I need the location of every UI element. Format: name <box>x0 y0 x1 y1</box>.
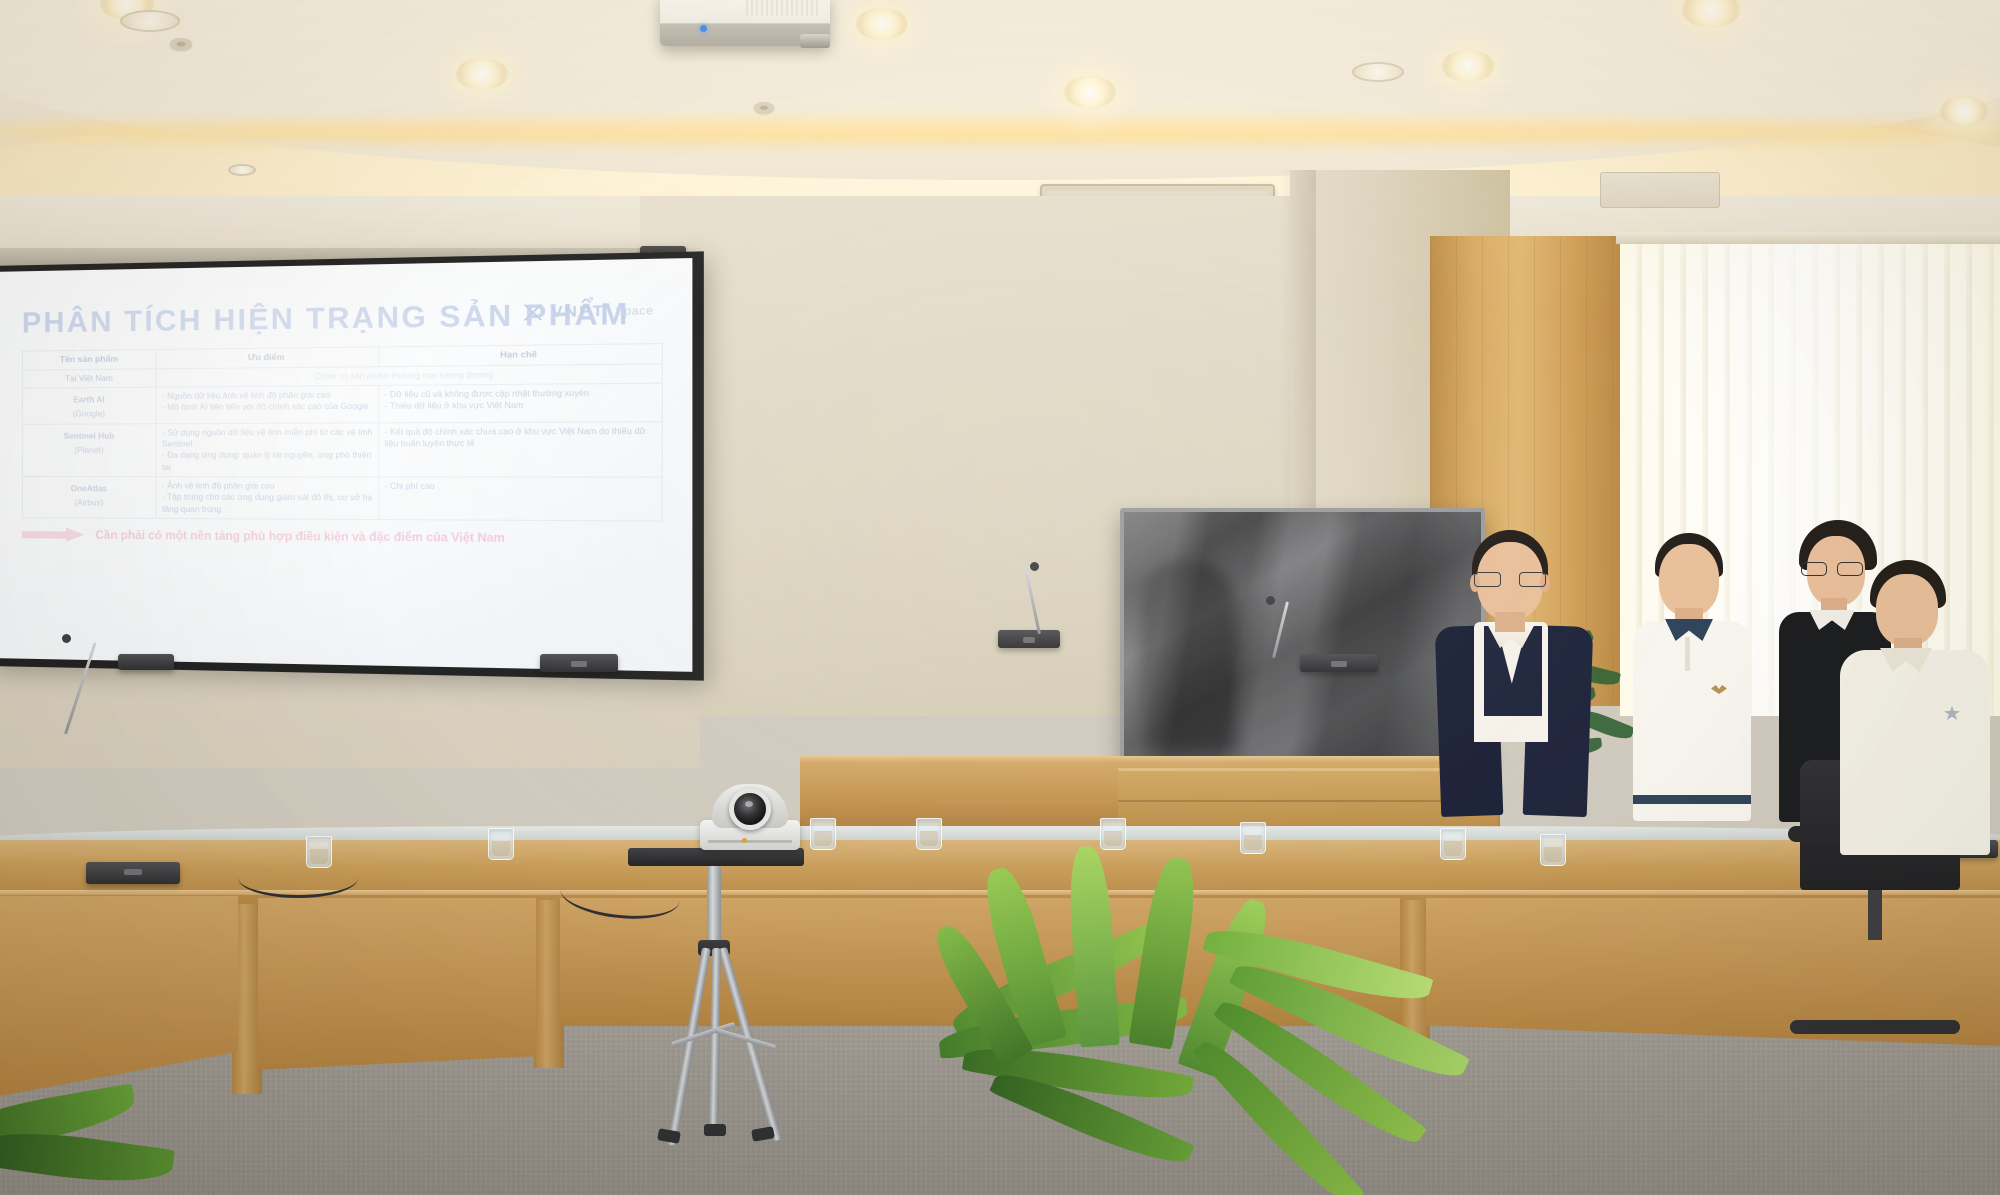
camera-status-led <box>742 838 747 843</box>
tripod-quick-release-plate <box>628 848 804 866</box>
th-pros: Ưu điểm <box>156 347 378 369</box>
product-name: Sentinel Hub <box>28 430 151 442</box>
conclusion-text: Cần phải có một nền tảng phù hợp điều ki… <box>95 530 504 545</box>
recessed-ring-light <box>1352 62 1404 82</box>
projector-status-led <box>700 25 707 32</box>
blinds-headrail <box>1616 232 2000 244</box>
drinking-glass[interactable] <box>488 828 514 860</box>
table-row: Earth AI (Google) - Nguồn dữ liệu ảnh vệ… <box>22 383 662 424</box>
conference-room-photo: VNPT Space PHÂN TÍCH HIỆN TRẠNG SẢN PHẨM… <box>0 0 2000 1195</box>
tv-screen-reflection <box>1140 560 1236 750</box>
cell-cons: - Dữ liệu cũ và không được cập nhật thườ… <box>379 383 663 422</box>
projection-screen: VNPT Space PHÂN TÍCH HIỆN TRẠNG SẢN PHẨM… <box>0 251 704 680</box>
downlight <box>856 8 908 40</box>
microphone-head-icon <box>62 634 71 643</box>
cell-pros: - Sử dụng nguồn dữ liệu vệ tinh miễn phí… <box>156 423 378 477</box>
head <box>1659 544 1719 616</box>
recessed-ring-light <box>228 164 256 176</box>
sleeve-trim <box>1633 795 1751 804</box>
placket <box>1685 637 1690 671</box>
conference-microphone-unit[interactable] <box>998 630 1060 648</box>
arrow-right-icon <box>22 530 86 542</box>
slide-brand-logo: VNPT Space <box>523 302 654 322</box>
table-row: Sentinel Hub (Planet) - Sử dụng nguồn dữ… <box>22 421 662 477</box>
eyeglasses-icon <box>1474 572 1546 587</box>
cell-product: Tại Việt Nam <box>22 369 156 389</box>
projector-lens-icon <box>800 34 830 48</box>
product-vendor: (Google) <box>28 409 151 421</box>
drinking-glass[interactable] <box>1100 818 1126 850</box>
downlight <box>456 58 508 90</box>
table-panel <box>258 898 536 1070</box>
presenter-in-navy-suit <box>1430 530 1600 830</box>
product-name: Earth AI <box>28 394 151 406</box>
shirt <box>1840 650 1990 855</box>
chair-base <box>1790 1020 1960 1034</box>
head <box>1876 574 1938 646</box>
shirt <box>1633 621 1751 821</box>
attendee-white-polo <box>1625 533 1775 833</box>
drinking-glass[interactable] <box>810 818 836 850</box>
downlight <box>1442 50 1494 82</box>
brand-name: VNPT <box>551 302 605 321</box>
product-vendor: (Planet) <box>28 445 151 457</box>
microphone-head-icon <box>1266 596 1275 605</box>
projector-vent <box>746 0 818 16</box>
th-cons: Hạn chế <box>379 344 663 367</box>
drinking-glass[interactable] <box>1540 834 1566 866</box>
recessed-ring-light <box>120 10 180 32</box>
tripod-foot <box>704 1124 726 1136</box>
slide-conclusion: Cần phải có một nền tảng phù hợp điều ki… <box>22 529 663 546</box>
neck <box>1495 612 1525 632</box>
tripod-center-column <box>707 866 721 946</box>
conference-microphone-unit[interactable] <box>1300 654 1378 672</box>
vnpt-logo-icon <box>523 304 542 320</box>
th-product: Tên sản phẩm <box>22 350 156 370</box>
cell-product: OneAtlas (Airbus) <box>22 477 156 519</box>
ceiling-access-panel <box>1600 172 1720 208</box>
attendee-cream-shirt <box>1840 560 2000 850</box>
sprinkler-head-icon <box>754 102 774 113</box>
product-vendor: (Airbus) <box>28 497 151 509</box>
microphone-foot <box>118 654 174 670</box>
cell-pros: - Ảnh vệ tinh độ phân giải cao - Tập tru… <box>156 477 378 520</box>
product-analysis-table: Tên sản phẩm Ưu điểm Hạn chế Tại Việt Na… <box>22 343 663 522</box>
microphone-head-icon <box>1030 562 1039 571</box>
cell-product: Earth AI (Google) <box>22 387 156 424</box>
conference-microphone-unit[interactable] <box>540 654 618 672</box>
product-name: OneAtlas <box>28 483 151 495</box>
smoke-detector-icon <box>170 38 192 50</box>
downlight <box>1064 76 1116 108</box>
foreground-plant-left <box>0 1100 200 1195</box>
cell-cons: - Chi phí cao <box>379 477 663 521</box>
drinking-glass[interactable] <box>916 818 942 850</box>
cell-cons: - Kết quả độ chính xác chưa cao ở khu vự… <box>379 421 663 477</box>
cove-light-strip <box>0 118 2000 144</box>
conference-microphone-unit[interactable] <box>86 862 180 884</box>
cable <box>238 858 358 898</box>
brand-sub: Space <box>615 304 654 317</box>
cell-pros: - Nguồn dữ liệu ảnh vệ tinh độ phân giải… <box>156 386 378 424</box>
cell-product: Sentinel Hub (Planet) <box>22 424 156 477</box>
camera-lens-icon <box>729 788 771 830</box>
projected-slide: VNPT Space PHÂN TÍCH HIỆN TRẠNG SẢN PHẨM… <box>0 258 692 672</box>
foreground-dracaena-plant <box>940 850 1480 1195</box>
table-row: OneAtlas (Airbus) - Ảnh vệ tinh độ phân … <box>22 477 662 521</box>
downlight <box>1940 96 1988 126</box>
